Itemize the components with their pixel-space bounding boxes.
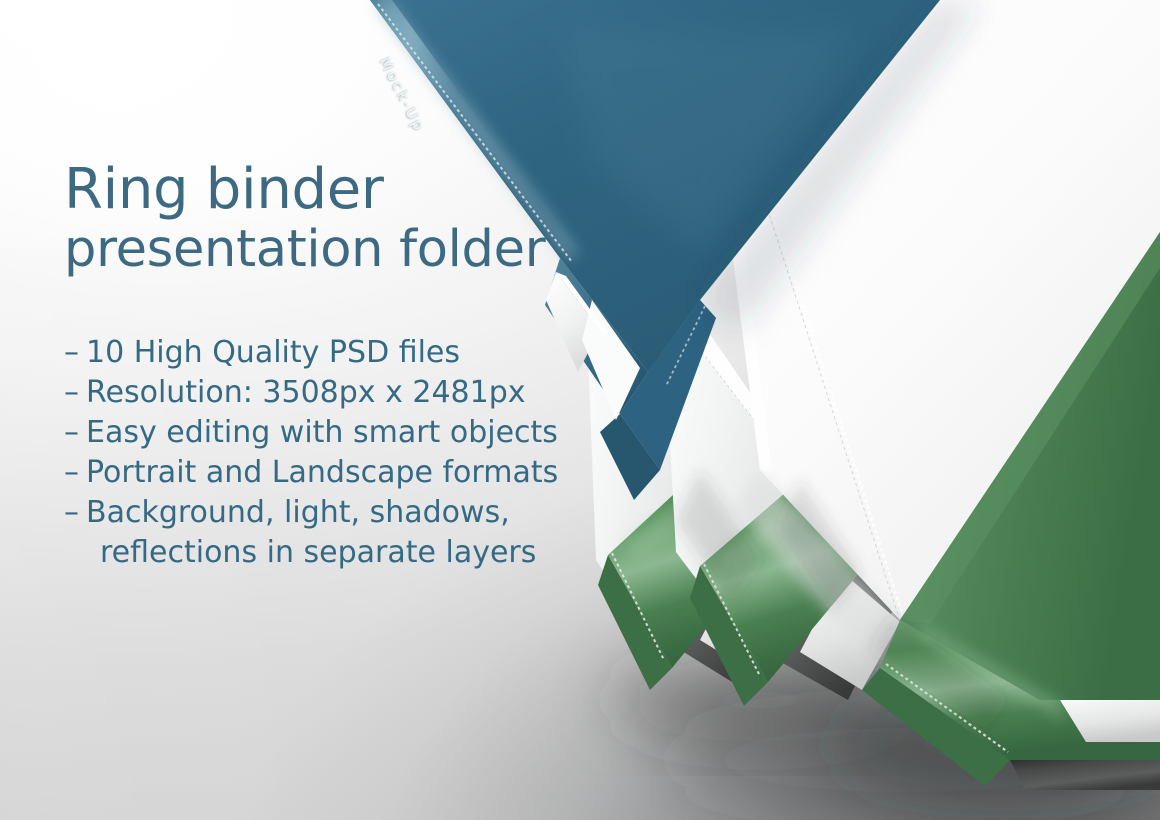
feature-text: Resolution: 3508px x 2481px — [86, 373, 526, 413]
promo-copy-block: Ring binder presentation folder – 10 Hig… — [64, 160, 584, 573]
feature-text: 10 High Quality PSD files — [86, 333, 460, 373]
list-item: – Easy editing with smart objects — [64, 413, 584, 453]
feature-text: Easy editing with smart objects — [86, 413, 558, 453]
bullet-dash-icon: – — [64, 373, 86, 413]
feature-text: Background, light, shadows, reflections … — [86, 493, 536, 573]
title-line-2: presentation folder — [64, 223, 584, 277]
title-line-1: Ring binder — [64, 160, 584, 219]
feature-text: Portrait and Landscape formats — [86, 453, 558, 493]
list-item: – Portrait and Landscape formats — [64, 453, 584, 493]
page-title: Ring binder presentation folder — [64, 160, 584, 277]
bullet-dash-icon: – — [64, 413, 86, 453]
bullet-dash-icon: – — [64, 333, 86, 373]
feature-text-primary: Background, light, shadows, — [86, 495, 510, 530]
feature-list: – 10 High Quality PSD files – Resolution… — [64, 333, 584, 572]
list-item: – Background, light, shadows, reflection… — [64, 493, 584, 573]
bullet-dash-icon: – — [64, 453, 86, 493]
list-item: – Resolution: 3508px x 2481px — [64, 373, 584, 413]
list-item: – 10 High Quality PSD files — [64, 333, 584, 373]
promo-canvas: Mock-Up Ring binder presentation folder … — [0, 0, 1160, 820]
feature-text-continued: reflections in separate layers — [100, 533, 536, 573]
bullet-dash-icon: – — [64, 493, 86, 533]
